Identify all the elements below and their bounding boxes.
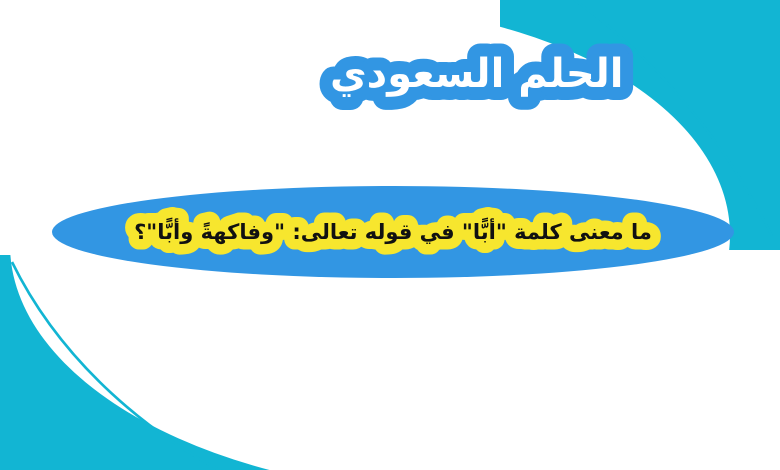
question-banner: ما معنى كلمة "أبًّا" في قوله تعالى: "وفا… [52, 186, 734, 278]
brand-title-graphic: الحلم السعودي الحلم السعودي الحلم السعود… [72, 40, 342, 110]
question-text: ما معنى كلمة "أبًّا" في قوله تعالى: "وفا… [134, 217, 652, 244]
brand-title: الحلم السعودي الحلم السعودي الحلم السعود… [72, 40, 342, 110]
poster-canvas: الحلم السعودي الحلم السعودي الحلم السعود… [0, 0, 780, 470]
brand-title-text: الحلم السعودي [330, 51, 623, 97]
question-text-graphic: ما معنى كلمة "أبًّا" في قوله تعالى: "وفا… [52, 186, 734, 278]
